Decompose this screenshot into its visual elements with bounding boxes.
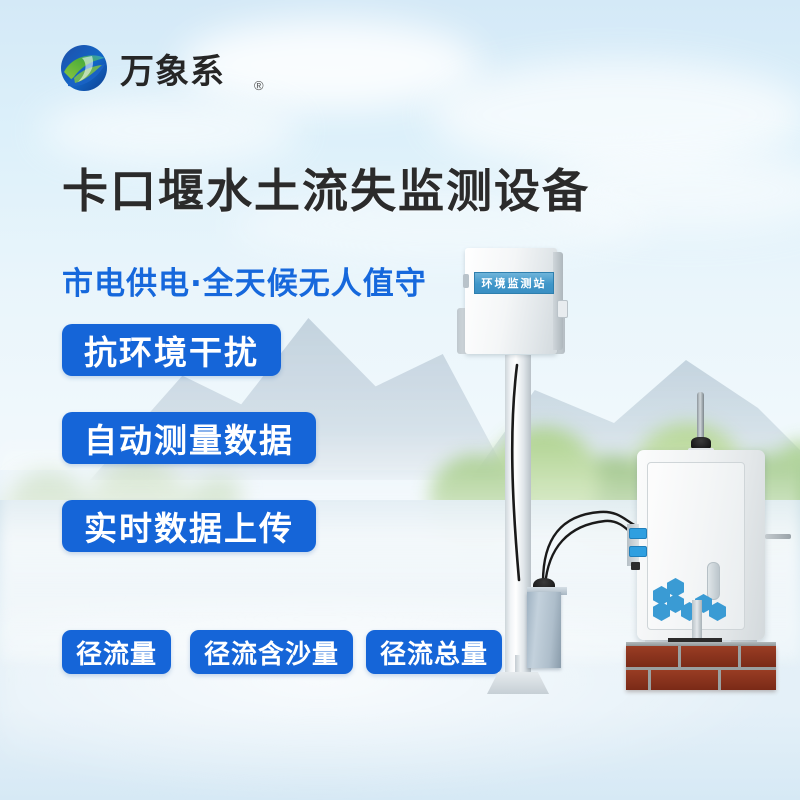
antenna-icon — [697, 392, 704, 440]
pole-mounted-sensor-box — [527, 592, 561, 668]
measurement-tag-1: 径流量 — [62, 630, 171, 674]
measurement-tag-2: 径流含沙量 — [190, 630, 353, 674]
station-enclosure — [465, 248, 557, 354]
globe-swoosh-logo-icon — [58, 42, 110, 94]
station-label: 环境监测站 — [474, 272, 554, 294]
measurement-tag-3: 径流总量 — [366, 630, 502, 674]
feature-pill-3: 实时数据上传 — [62, 500, 316, 552]
brand-name: 万象系 — [120, 44, 225, 93]
environment-monitoring-station: 环境监测站 — [457, 248, 565, 366]
cable-connector — [629, 546, 647, 557]
cable-connector — [629, 528, 647, 539]
cable-gland-icon — [631, 562, 640, 570]
hexagon-cluster-icon — [653, 578, 717, 614]
page-subtitle: 市电供电·全天候无人值守 — [62, 258, 427, 303]
feature-pill-2: 自动测量数据 — [62, 412, 316, 464]
cabinet-vent-tube — [765, 534, 791, 539]
brick-foundation — [626, 646, 776, 690]
station-clip-icon — [557, 300, 568, 318]
cloud — [180, 20, 480, 110]
brand-logo: 万象系 ® — [58, 42, 225, 94]
station-clip-icon — [463, 274, 469, 288]
page-title: 卡口堰水土流失监测设备 — [62, 155, 590, 221]
feature-pill-1: 抗环境干扰 — [62, 324, 281, 376]
product-poster: 万象系 ® 卡口堰水土流失监测设备 市电供电·全天候无人值守 抗环境干扰 自动测… — [0, 0, 800, 800]
